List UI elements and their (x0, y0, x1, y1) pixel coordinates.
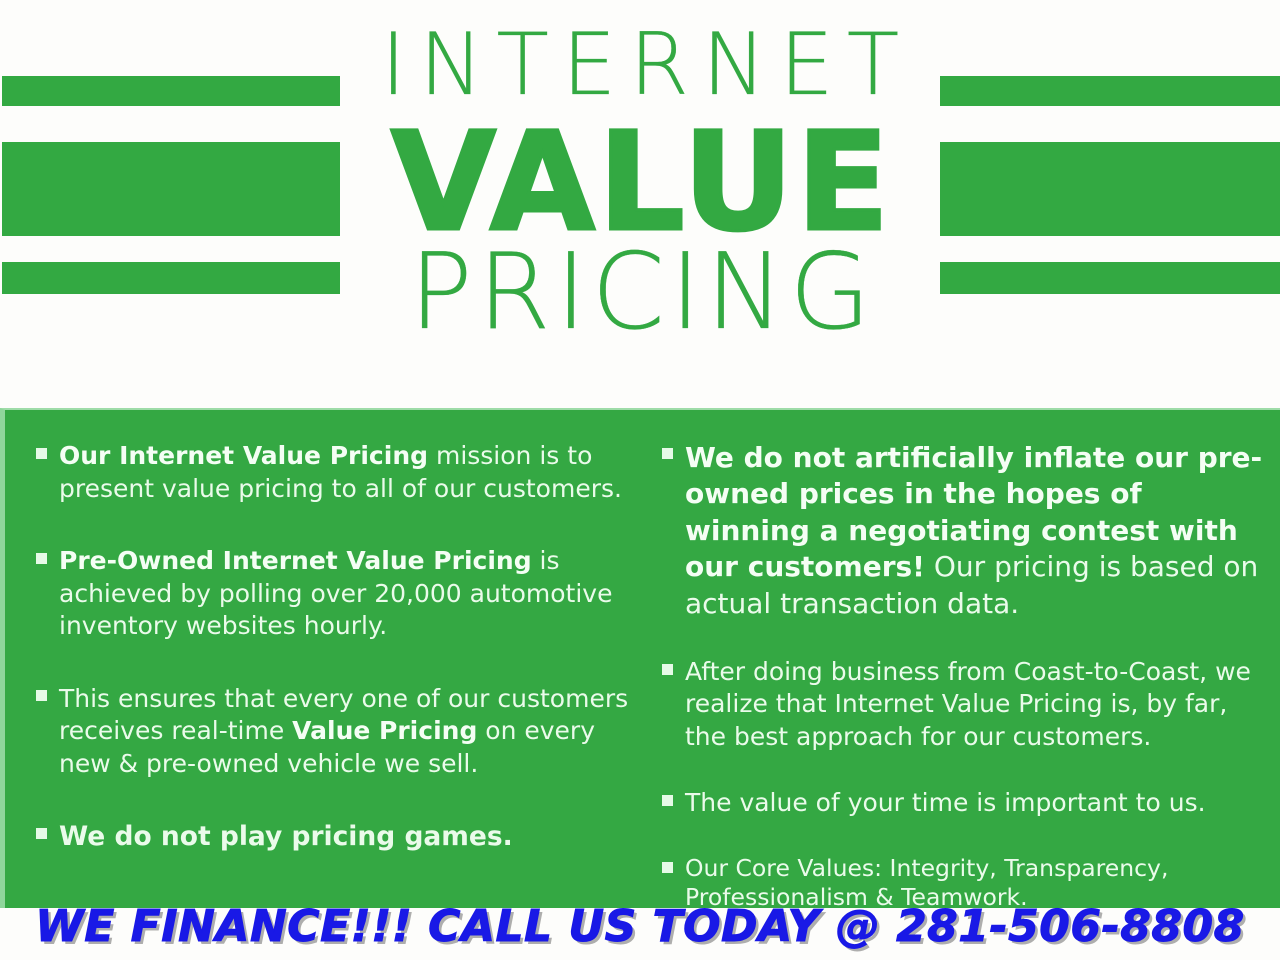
square-bullet-icon (36, 553, 47, 564)
list-item: Pre-Owned Internet Value Pricing is achi… (31, 545, 629, 643)
finance-phone-text[interactable]: WE FINANCE!!! CALL US TODAY @ 281-506-88… (35, 901, 1245, 952)
square-bullet-icon (36, 690, 47, 701)
square-bullet-icon (662, 448, 673, 459)
list-item: This ensures that every one of our custo… (31, 683, 629, 781)
square-bullet-icon (36, 448, 47, 459)
bullet-text: This ensures that every one of our custo… (59, 684, 628, 778)
square-bullet-icon (662, 795, 673, 806)
bullet-text: The value of your time is important to u… (685, 788, 1206, 817)
list-item: The value of your time is important to u… (657, 787, 1270, 820)
list-item: We do not play pricing games. (31, 820, 629, 854)
list-item: We do not artificially inflate our pre-o… (657, 440, 1270, 622)
bullet-bold-lead: Our Internet Value Pricing (59, 441, 428, 470)
bullet-column-right: We do not artificially inflate our pre-o… (637, 410, 1280, 908)
bullet-text: Pre-Owned Internet Value Pricing is achi… (59, 546, 612, 640)
bullet-bold-lead: Pre-Owned Internet Value Pricing (59, 546, 532, 575)
bullet-column-left: Our Internet Value Pricing mission is to… (5, 410, 637, 908)
value-pricing-statement-panel: Our Internet Value Pricing mission is to… (0, 408, 1280, 908)
bullet-text: After doing business from Coast-to-Coast… (685, 657, 1251, 751)
bullet-text: We do not artificially inflate our pre-o… (685, 441, 1262, 620)
bullet-text: We do not play pricing games. (59, 821, 513, 852)
square-bullet-icon (36, 828, 47, 839)
finance-call-to-action-banner: WE FINANCE!!! CALL US TODAY @ 281-506-88… (0, 893, 1280, 960)
logo-word-internet: INTERNET (0, 22, 1280, 108)
bullet-text: Our Internet Value Pricing mission is to… (59, 441, 622, 503)
list-item: After doing business from Coast-to-Coast… (657, 656, 1270, 754)
internet-value-pricing-poster: INTERNET VALUE PRICING Our Internet Valu… (0, 0, 1280, 960)
list-item: Our Internet Value Pricing mission is to… (31, 440, 629, 505)
logo-word-pricing: PRICING (0, 240, 1280, 345)
bullet-bold-mid: Value Pricing (292, 716, 477, 745)
logo-header: INTERNET VALUE PRICING (0, 0, 1280, 408)
square-bullet-icon (662, 862, 673, 873)
square-bullet-icon (662, 664, 673, 675)
